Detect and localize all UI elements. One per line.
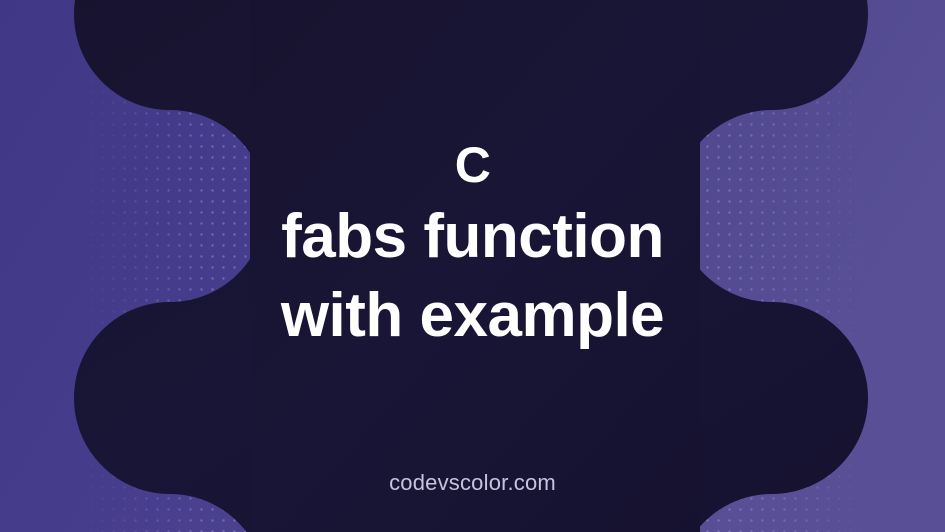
footer: codevscolor.com	[0, 470, 945, 496]
title-line-topic: fabs function	[0, 197, 945, 276]
title-line-language: C	[0, 133, 945, 197]
banner-card: C fabs function with example codevscolor…	[0, 0, 945, 532]
title-line-subtopic: with example	[0, 276, 945, 355]
site-name: codevscolor.com	[389, 470, 556, 495]
page-title: C fabs function with example	[0, 133, 945, 355]
